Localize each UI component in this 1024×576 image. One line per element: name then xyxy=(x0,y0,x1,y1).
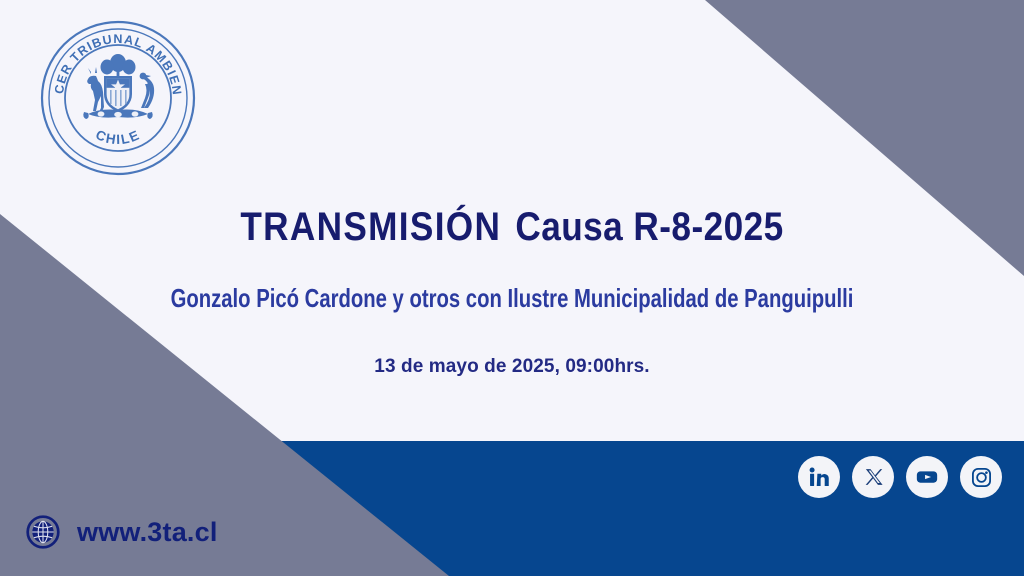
youtube-icon xyxy=(914,464,940,490)
social-link-linkedin[interactable] xyxy=(798,456,840,498)
broadcast-title-card: TERCER TRIBUNAL AMBIENTAL CHILE xyxy=(0,0,1024,576)
website-footer: www.3ta.cl xyxy=(26,515,218,549)
social-link-youtube[interactable] xyxy=(906,456,948,498)
linkedin-icon xyxy=(806,464,832,490)
tribunal-seal-logo: TERCER TRIBUNAL AMBIENTAL CHILE xyxy=(38,18,198,178)
coat-of-arms xyxy=(83,54,154,119)
page-title: TRANSMISIÓNCausa R-8-2025 xyxy=(61,205,962,250)
hearing-datetime: 13 de mayo de 2025, 09:00hrs. xyxy=(0,356,1024,378)
seal-svg: TERCER TRIBUNAL AMBIENTAL CHILE xyxy=(38,18,198,178)
globe-icon xyxy=(26,515,60,549)
social-links xyxy=(798,456,1002,498)
title-text-block: TRANSMISIÓNCausa R-8-2025 Gonzalo Picó C… xyxy=(0,205,1024,378)
website-url: www.3ta.cl xyxy=(77,517,218,548)
x-twitter-icon xyxy=(861,465,885,489)
case-parties-subtitle: Gonzalo Picó Cardone y otros con Ilustre… xyxy=(113,284,912,314)
title-keyword: TRANSMISIÓN xyxy=(240,205,501,249)
social-link-instagram[interactable] xyxy=(960,456,1002,498)
instagram-icon xyxy=(969,465,994,490)
title-case-number: Causa R-8-2025 xyxy=(515,205,783,249)
social-link-x-twitter[interactable] xyxy=(852,456,894,498)
seal-ring-text-bottom: CHILE xyxy=(93,127,142,147)
